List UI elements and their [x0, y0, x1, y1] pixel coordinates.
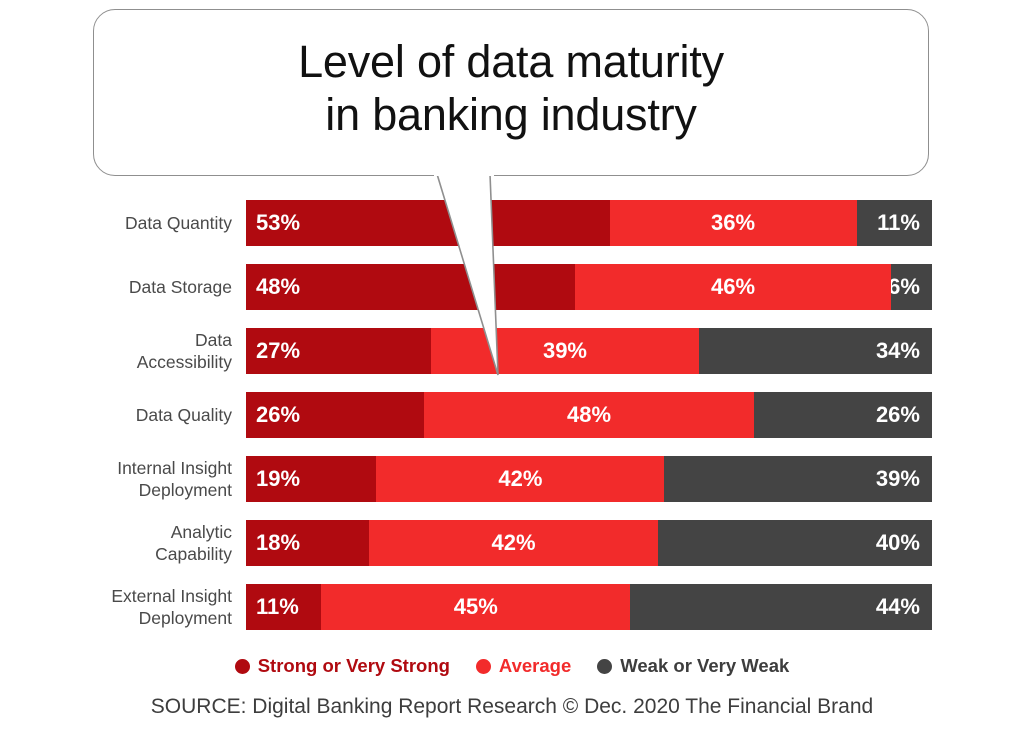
category-label: Internal Insight Deployment: [60, 457, 232, 501]
segment-value: 39%: [876, 466, 920, 492]
bar-track: 11% 45% 44%: [246, 584, 932, 630]
category-label: Analytic Capability: [60, 521, 232, 565]
segment-average[interactable]: 36%: [610, 200, 857, 246]
segment-value: 6%: [891, 274, 920, 300]
table-row: Analytic Capability 18% 42% 40%: [0, 520, 1024, 566]
bar-track: 18% 42% 40%: [246, 520, 932, 566]
page-title: Level of data maturity in banking indust…: [94, 35, 928, 141]
segment-value: 36%: [711, 210, 755, 236]
segment-value: 18%: [256, 530, 300, 556]
legend-label: Weak or Very Weak: [620, 655, 789, 677]
segment-value: 53%: [256, 210, 300, 236]
segment-value: 42%: [492, 530, 536, 556]
bar-track: 19% 42% 39%: [246, 456, 932, 502]
legend-label: Strong or Very Strong: [258, 655, 450, 677]
title-callout-bubble: Level of data maturity in banking indust…: [93, 9, 929, 176]
segment-average[interactable]: 48%: [424, 392, 753, 438]
table-row: Data Quality 26% 48% 26%: [0, 392, 1024, 438]
segment-value: 45%: [454, 594, 498, 620]
segment-average[interactable]: 42%: [376, 456, 664, 502]
segment-strong[interactable]: 18%: [246, 520, 369, 566]
segment-value: 34%: [876, 338, 920, 364]
table-row: External Insight Deployment 11% 45% 44%: [0, 584, 1024, 630]
bar-track: 27% 39% 34%: [246, 328, 932, 374]
legend-dot-icon: [235, 659, 250, 674]
table-row: Data Accessibility 27% 39% 34%: [0, 328, 1024, 374]
segment-weak[interactable]: 6%: [891, 264, 932, 310]
segment-strong[interactable]: 26%: [246, 392, 424, 438]
segment-value: 44%: [876, 594, 920, 620]
segment-weak[interactable]: 44%: [630, 584, 932, 630]
legend-dot-icon: [476, 659, 491, 674]
segment-average[interactable]: 39%: [431, 328, 699, 374]
segment-value: 26%: [876, 402, 920, 428]
category-label: Data Accessibility: [60, 329, 232, 373]
segment-strong[interactable]: 53%: [246, 200, 610, 246]
bar-track: 53% 36% 11%: [246, 200, 932, 246]
segment-weak[interactable]: 26%: [754, 392, 932, 438]
bar-track: 48% 46% 6%: [246, 264, 932, 310]
category-label: Data Quality: [60, 404, 232, 426]
table-row: Data Quantity 53% 36% 11%: [0, 200, 1024, 246]
segment-weak[interactable]: 11%: [857, 200, 932, 246]
legend-label: Average: [499, 655, 571, 677]
chart-legend: Strong or Very Strong Average Weak or Ve…: [0, 655, 1024, 677]
table-row: Data Storage 48% 46% 6%: [0, 264, 1024, 310]
segment-value: 48%: [567, 402, 611, 428]
segment-strong[interactable]: 19%: [246, 456, 376, 502]
legend-item-weak[interactable]: Weak or Very Weak: [597, 655, 789, 677]
category-label: External Insight Deployment: [60, 585, 232, 629]
segment-weak[interactable]: 40%: [658, 520, 932, 566]
segment-value: 42%: [498, 466, 542, 492]
segment-value: 26%: [256, 402, 300, 428]
segment-average[interactable]: 45%: [321, 584, 630, 630]
legend-item-strong[interactable]: Strong or Very Strong: [235, 655, 450, 677]
segment-value: 27%: [256, 338, 300, 364]
table-row: Internal Insight Deployment 19% 42% 39%: [0, 456, 1024, 502]
segment-strong[interactable]: 11%: [246, 584, 321, 630]
segment-value: 19%: [256, 466, 300, 492]
segment-strong[interactable]: 48%: [246, 264, 575, 310]
segment-value: 40%: [876, 530, 920, 556]
segment-value: 11%: [877, 210, 920, 236]
stacked-bar-chart: Data Quantity 53% 36% 11% Data Storage 4…: [0, 200, 1024, 660]
bar-track: 26% 48% 26%: [246, 392, 932, 438]
legend-item-average[interactable]: Average: [476, 655, 571, 677]
category-label: Data Storage: [60, 276, 232, 298]
segment-value: 39%: [543, 338, 587, 364]
source-attribution: SOURCE: Digital Banking Report Research …: [0, 695, 1024, 719]
segment-value: 11%: [256, 594, 299, 620]
segment-strong[interactable]: 27%: [246, 328, 431, 374]
segment-average[interactable]: 42%: [369, 520, 657, 566]
segment-value: 48%: [256, 274, 300, 300]
segment-weak[interactable]: 39%: [664, 456, 932, 502]
segment-weak[interactable]: 34%: [699, 328, 932, 374]
legend-dot-icon: [597, 659, 612, 674]
segment-average[interactable]: 46%: [575, 264, 891, 310]
category-label: Data Quantity: [60, 212, 232, 234]
segment-value: 46%: [711, 274, 755, 300]
